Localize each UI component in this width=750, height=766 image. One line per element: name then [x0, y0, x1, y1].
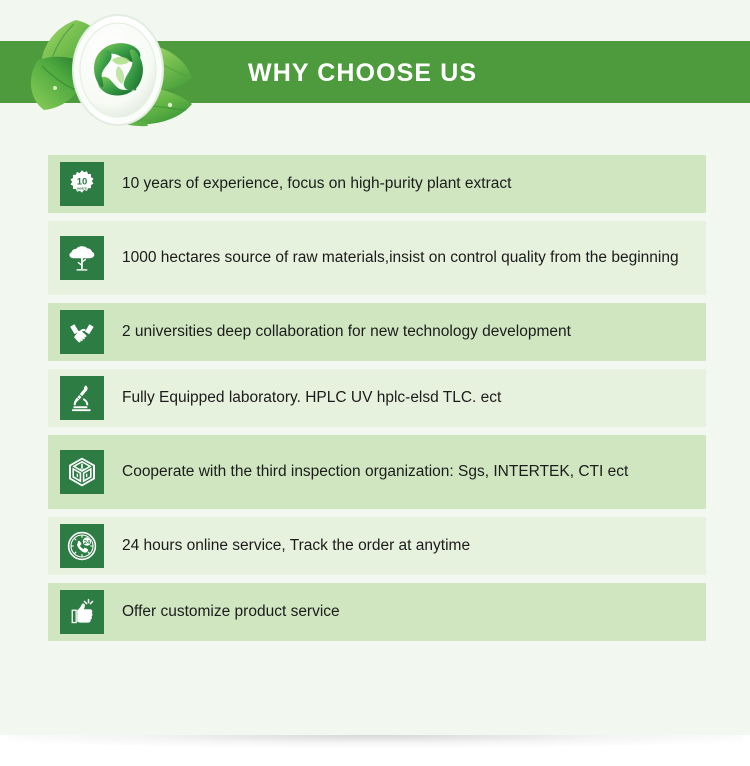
promo-banner: WHY CHOOSE US	[0, 0, 750, 735]
microscope-icon	[60, 376, 104, 420]
list-item[interactable]: 24 24 hours online service, Track the or…	[48, 517, 706, 575]
phone-24h-icon: 24	[60, 524, 104, 568]
list-item-label: 2 universities deep collaboration for ne…	[122, 321, 706, 343]
leaf-circle-logo	[14, 8, 224, 133]
page-title: WHY CHOOSE US	[248, 59, 477, 88]
list-item-label: Fully Equipped laboratory. HPLC UV hplc-…	[122, 387, 706, 409]
page-bottom-shadow	[0, 735, 750, 766]
list-item-label: 10 years of experience, focus on high-pu…	[122, 173, 706, 195]
list-item-label: 1000 hectares source of raw materials,in…	[122, 247, 706, 269]
list-item-label: Offer customize product service	[122, 601, 706, 623]
list-item[interactable]: Fully Equipped laboratory. HPLC UV hplc-…	[48, 369, 706, 427]
svg-text:24: 24	[84, 540, 91, 546]
list-item-label: 24 hours online service, Track the order…	[122, 535, 706, 557]
handshake-icon	[60, 310, 104, 354]
ten-years-badge-icon: 10 years	[60, 162, 104, 206]
list-item[interactable]: 2 universities deep collaboration for ne…	[48, 303, 706, 361]
cube-box-icon	[60, 450, 104, 494]
tree-icon	[60, 236, 104, 280]
thumbs-up-icon	[60, 590, 104, 634]
feature-list: 10 years 10 years of experience, focus o…	[48, 155, 706, 649]
list-item[interactable]: Cooperate with the third inspection orga…	[48, 435, 706, 509]
list-item[interactable]: 10 years 10 years of experience, focus o…	[48, 155, 706, 213]
svg-text:years: years	[77, 187, 87, 191]
list-item-label: Cooperate with the third inspection orga…	[122, 461, 706, 483]
list-item[interactable]: 1000 hectares source of raw materials,in…	[48, 221, 706, 295]
list-item[interactable]: Offer customize product service	[48, 583, 706, 641]
